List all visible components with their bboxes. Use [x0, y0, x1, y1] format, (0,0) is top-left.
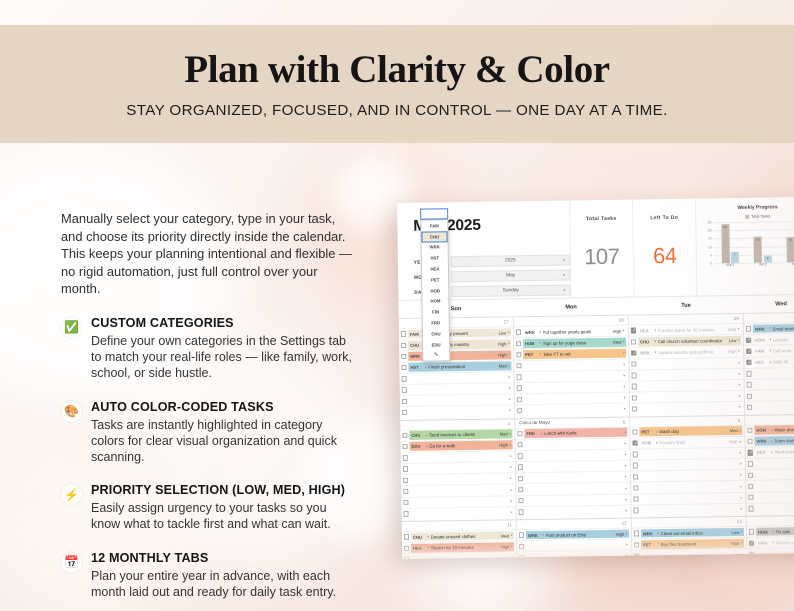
task-content[interactable]: ▾: [526, 506, 629, 516]
task-checkbox[interactable]: [518, 476, 523, 481]
task-content[interactable]: ▾: [639, 403, 742, 413]
chevron-down-icon[interactable]: ▾: [740, 451, 742, 455]
chevron-down-icon[interactable]: ▾: [769, 327, 771, 331]
task-checkbox[interactable]: [402, 387, 407, 392]
task-content[interactable]: HST▾Finish presentationMed▾: [409, 362, 512, 372]
chevron-down-icon[interactable]: ▾: [509, 409, 511, 413]
task-name[interactable]: [428, 501, 507, 502]
task-content[interactable]: ▾: [640, 460, 743, 470]
task-content[interactable]: ▾: [639, 392, 742, 402]
calendar-day-cell[interactable]: 13WRK▾Clean out email inboxLow▾PET▾Buy f…: [632, 517, 748, 559]
task-checkbox[interactable]: [402, 410, 407, 415]
task-content[interactable]: WRK▾Post product on EtsyHigh▾: [526, 529, 629, 539]
task-checkbox[interactable]: [633, 485, 638, 490]
task-name[interactable]: [428, 468, 507, 469]
task-name[interactable]: Finish presentation: [428, 364, 497, 370]
task-name[interactable]: Send invoices to clients: [429, 432, 498, 438]
chevron-down-icon[interactable]: ▾: [656, 430, 658, 434]
task-checkbox[interactable]: [404, 557, 409, 559]
task-content[interactable]: ▾: [755, 470, 794, 480]
task-name[interactable]: [772, 395, 794, 396]
category-dropdown-open[interactable]: FAMCHUWRKHSTHEAPETHOBHOMFINFRDCHUEDU✎: [420, 219, 450, 362]
task-checkbox[interactable]: [749, 540, 754, 545]
task-row[interactable]: ▾: [746, 457, 794, 469]
task-checkbox[interactable]: [631, 350, 636, 355]
task-name[interactable]: [428, 479, 507, 480]
task-name[interactable]: [657, 396, 736, 397]
task-name[interactable]: [541, 376, 620, 377]
chevron-down-icon[interactable]: ▾: [623, 373, 625, 377]
task-name[interactable]: [658, 509, 737, 510]
category-cell-selection[interactable]: [420, 208, 448, 219]
chevron-down-icon[interactable]: ▾: [738, 372, 740, 376]
task-content[interactable]: ▾: [754, 379, 794, 389]
chevron-down-icon[interactable]: ▾: [510, 510, 512, 514]
task-content[interactable]: PET▾Buy flea treatmentHigh▾: [641, 539, 744, 549]
task-content[interactable]: ▾: [411, 497, 514, 507]
task-row[interactable]: ▾: [746, 468, 794, 480]
chevron-down-icon[interactable]: ▾: [510, 465, 512, 469]
task-content[interactable]: ▾: [756, 481, 794, 491]
task-checkbox[interactable]: [747, 382, 752, 387]
calendar-day-cell[interactable]: 29HEA▾Practice piano for 20 minutesMed▾C…: [629, 314, 745, 416]
task-row[interactable]: HOM▾Fix sinkMed▾: [747, 525, 794, 537]
task-checkbox[interactable]: [518, 442, 523, 447]
task-name[interactable]: Sign up for yoga class: [543, 340, 612, 346]
task-name[interactable]: [542, 443, 621, 444]
chevron-down-icon[interactable]: ▾: [540, 352, 542, 356]
task-row[interactable]: ▾: [745, 389, 794, 401]
task-checkbox[interactable]: [748, 439, 753, 444]
task-name[interactable]: [427, 388, 506, 389]
task-content[interactable]: ▾: [639, 358, 742, 368]
task-content[interactable]: FAM▾Call momMed▾: [754, 346, 794, 356]
task-content[interactable]: ▾: [756, 492, 794, 502]
task-content[interactable]: ▾: [639, 381, 742, 391]
task-checkbox[interactable]: [518, 465, 523, 470]
task-content[interactable]: ▾: [525, 461, 628, 471]
task-row[interactable]: ▾: [400, 405, 514, 418]
chevron-down-icon[interactable]: ▾: [508, 375, 510, 379]
task-content[interactable]: HEA▾Meal prepHigh▾: [755, 447, 794, 457]
task-content[interactable]: HOB▾Sign up for yoga classMed▾: [523, 337, 626, 347]
chevron-down-icon[interactable]: ▾: [771, 450, 773, 454]
task-name[interactable]: [773, 485, 794, 486]
edit-pencil-icon[interactable]: ✎: [423, 350, 449, 361]
task-name[interactable]: [771, 373, 794, 374]
task-row[interactable]: ▾: [746, 479, 794, 491]
dropdown-option[interactable]: HST: [422, 253, 448, 264]
task-checkbox[interactable]: [746, 337, 751, 342]
task-checkbox[interactable]: [404, 545, 409, 550]
task-content[interactable]: CHU▾Send invoices to clientsMed▾: [410, 430, 513, 440]
chevron-down-icon[interactable]: ▾: [740, 484, 742, 488]
task-name[interactable]: Post product on Etsy: [545, 531, 614, 537]
task-checkbox[interactable]: [748, 450, 753, 455]
task-content[interactable]: WRK▾Email teamMed▾: [753, 323, 794, 333]
task-checkbox[interactable]: [403, 444, 408, 449]
calendar-day-cell[interactable]: 12WRK▾Post product on EtsyHigh▾▾▾▾: [517, 519, 633, 559]
chevron-down-icon[interactable]: ▾: [772, 541, 774, 545]
chevron-down-icon[interactable]: ▾: [770, 349, 772, 353]
task-row[interactable]: HOM▾LaundryLow▾: [744, 333, 794, 345]
calendar-day-cell[interactable]: 6PET▾Wash dogMed▾HOM▾Grocery shopHigh▾▾▾…: [630, 415, 746, 517]
task-name[interactable]: Donate unused clothes: [431, 533, 500, 539]
task-checkbox[interactable]: [632, 406, 637, 411]
task-row[interactable]: HOM▾Water plantsLow▾: [745, 423, 794, 435]
task-content[interactable]: PET▾Wash dogMed▾: [640, 426, 743, 436]
dropdown-option[interactable]: HEA: [422, 263, 448, 274]
calendar-day-cell[interactable]: 11CHU▾Donate unused clothesMed▾HEA▾Stret…: [402, 520, 518, 559]
dropdown-option[interactable]: FRD: [423, 317, 449, 328]
task-row[interactable]: WRK▾Team standupMed▾: [745, 434, 794, 446]
task-name[interactable]: Stretch for 10 minutes: [431, 544, 500, 550]
task-content[interactable]: ▾: [409, 395, 512, 405]
dropdown-option[interactable]: CHU: [423, 328, 449, 339]
task-checkbox[interactable]: [403, 466, 408, 471]
chevron-down-icon[interactable]: ▾: [624, 430, 626, 434]
chevron-down-icon[interactable]: ▾: [654, 328, 656, 332]
task-checkbox[interactable]: [403, 455, 408, 460]
task-content[interactable]: CHU▾Call church volunteer coordinatorLow…: [638, 336, 741, 346]
task-checkbox[interactable]: [403, 478, 408, 483]
task-content[interactable]: ▾: [754, 402, 794, 412]
chevron-down-icon[interactable]: ▾: [510, 499, 512, 503]
task-checkbox[interactable]: [404, 511, 409, 516]
task-content[interactable]: ▾: [754, 368, 794, 378]
task-name[interactable]: [658, 487, 737, 488]
task-name[interactable]: Email team: [772, 326, 794, 331]
task-content[interactable]: ▾: [525, 450, 628, 460]
task-row[interactable]: ▾: [515, 403, 629, 416]
task-name[interactable]: [541, 364, 620, 365]
chevron-down-icon[interactable]: ▾: [508, 353, 510, 357]
chevron-down-icon[interactable]: ▾: [739, 394, 741, 398]
chevron-down-icon[interactable]: ▾: [771, 428, 773, 432]
task-row[interactable]: HEA▾Walk 5kHigh▾: [744, 355, 794, 367]
calendar-day-cell[interactable]: Cinco de Mayo5FRD▾Lunch with Karla▾▾▾▾▾▾…: [515, 417, 631, 519]
task-content[interactable]: ▾: [641, 504, 744, 514]
chevron-down-icon[interactable]: ▾: [657, 531, 659, 535]
task-row[interactable]: WRK▾Email teamMed▾: [744, 322, 794, 334]
chevron-down-icon[interactable]: ▾: [738, 338, 740, 342]
chevron-down-icon[interactable]: ▾: [427, 535, 429, 539]
chevron-down-icon[interactable]: ▾: [427, 546, 429, 550]
task-content[interactable]: WRK▾Review reportLow▾: [756, 538, 794, 548]
chevron-down-icon[interactable]: ▾: [426, 444, 428, 448]
task-content[interactable]: ▾: [411, 508, 514, 518]
chevron-down-icon[interactable]: ▾: [623, 351, 625, 355]
chevron-down-icon[interactable]: ▾: [508, 330, 510, 334]
calendar-day-cell[interactable]: 27FAM▾Buy birthday presentLow▾CHU▾Serve …: [399, 317, 515, 419]
task-content[interactable]: HOM▾LaundryLow▾: [753, 335, 794, 345]
task-content[interactable]: ▾: [641, 482, 744, 492]
task-name[interactable]: [657, 407, 736, 408]
chevron-down-icon[interactable]: ▾: [510, 454, 512, 458]
chevron-down-icon[interactable]: ▾: [740, 473, 742, 477]
task-name[interactable]: Take FT to vet: [543, 351, 620, 357]
chevron-down-icon[interactable]: ▾: [625, 497, 627, 501]
task-checkbox[interactable]: [403, 500, 408, 505]
task-name[interactable]: [542, 387, 621, 388]
task-checkbox[interactable]: [631, 328, 636, 333]
task-row[interactable]: ▾: [746, 490, 794, 502]
dropdown-option[interactable]: WRK: [422, 242, 448, 253]
task-checkbox[interactable]: [403, 489, 408, 494]
task-content[interactable]: ▾: [640, 471, 743, 481]
calendar-day-cell[interactable]: 7HOM▾Water plantsLow▾WRK▾Team standupMed…: [745, 414, 794, 516]
chevron-down-icon[interactable]: ▾: [508, 364, 510, 368]
task-name[interactable]: [543, 455, 622, 456]
selector-dropdown[interactable]: May▾: [451, 269, 570, 282]
task-row[interactable]: ▾: [631, 503, 745, 516]
task-name[interactable]: Buy flea treatment: [661, 541, 730, 547]
task-checkbox[interactable]: [632, 373, 637, 378]
task-name[interactable]: [426, 377, 505, 378]
task-name[interactable]: [658, 464, 737, 465]
task-checkbox[interactable]: [401, 331, 406, 336]
task-content[interactable]: ▾: [524, 393, 627, 403]
task-checkbox[interactable]: [517, 374, 522, 379]
chevron-down-icon[interactable]: ▾: [626, 543, 628, 547]
task-name[interactable]: [543, 511, 622, 512]
chevron-down-icon[interactable]: ▾: [626, 532, 628, 536]
task-name[interactable]: [773, 463, 794, 464]
task-checkbox[interactable]: [633, 441, 638, 446]
spreadsheet-screenshot[interactable]: May 2025 YEAR2025▾MONTHMay▾DAYSunday▾ To…: [397, 197, 794, 559]
task-content[interactable]: ▾: [524, 405, 627, 415]
task-content[interactable]: ▾: [526, 540, 629, 550]
chevron-down-icon[interactable]: ▾: [625, 486, 627, 490]
task-checkbox[interactable]: [519, 544, 524, 549]
task-checkbox[interactable]: [517, 408, 522, 413]
task-checkbox[interactable]: [633, 463, 638, 468]
task-checkbox[interactable]: [402, 376, 407, 381]
chevron-down-icon[interactable]: ▾: [739, 429, 741, 433]
task-content[interactable]: ▾: [524, 360, 627, 370]
chevron-down-icon[interactable]: ▾: [740, 496, 742, 500]
task-checkbox[interactable]: [401, 342, 406, 347]
task-name[interactable]: Team standup: [774, 438, 794, 443]
task-checkbox[interactable]: [634, 508, 639, 513]
chevron-down-icon[interactable]: ▾: [740, 462, 742, 466]
task-row[interactable]: ▾: [744, 367, 794, 379]
chevron-down-icon[interactable]: ▾: [738, 349, 740, 353]
task-content[interactable]: ▾: [410, 452, 513, 462]
selector-dropdown[interactable]: 2025▾: [451, 254, 570, 267]
chevron-down-icon[interactable]: ▾: [624, 385, 626, 389]
task-name[interactable]: [656, 363, 735, 364]
task-name[interactable]: Review report: [776, 540, 794, 545]
task-name[interactable]: Walk 5k: [773, 359, 794, 364]
chevron-down-icon[interactable]: ▾: [741, 541, 743, 545]
task-content[interactable]: CHU▾Donate unused clothesMed▾: [411, 531, 514, 541]
dropdown-option[interactable]: CHU: [421, 231, 447, 242]
chevron-down-icon[interactable]: ▾: [426, 433, 428, 437]
chevron-down-icon[interactable]: ▾: [425, 365, 427, 369]
task-name[interactable]: Fix sink: [775, 529, 794, 534]
chevron-down-icon[interactable]: ▾: [657, 542, 659, 546]
task-content[interactable]: WRK▾Update resume and portfolioHigh▾: [639, 347, 742, 357]
task-checkbox[interactable]: [402, 433, 407, 438]
task-checkbox[interactable]: [632, 384, 637, 389]
task-checkbox[interactable]: [748, 484, 753, 489]
task-checkbox[interactable]: [634, 531, 639, 536]
task-name[interactable]: [656, 374, 735, 375]
task-content[interactable]: HOM▾Grocery shopHigh▾: [640, 437, 743, 447]
chevron-down-icon[interactable]: ▾: [739, 440, 741, 444]
calendar-day-cell[interactable]: 28WRK▾Put together yearly goalsHigh▾HOB▾…: [514, 316, 630, 418]
task-name[interactable]: Wash dog: [659, 428, 728, 434]
chevron-down-icon[interactable]: ▾: [771, 439, 773, 443]
task-name[interactable]: [658, 475, 737, 476]
task-checkbox[interactable]: [749, 506, 754, 511]
task-content[interactable]: ▾: [409, 373, 512, 383]
task-checkbox[interactable]: [519, 533, 524, 538]
task-content[interactable]: FRD▾Lunch with Karla▾: [525, 428, 628, 438]
task-checkbox[interactable]: [634, 542, 639, 547]
task-content[interactable]: ▾: [641, 493, 744, 503]
task-name[interactable]: Call mom: [773, 348, 794, 353]
task-content[interactable]: ▾: [526, 484, 629, 494]
task-checkbox[interactable]: [632, 429, 637, 434]
chevron-down-icon[interactable]: ▾: [508, 342, 510, 346]
task-row[interactable]: ▾: [746, 502, 794, 514]
task-name[interactable]: Go for a walk: [429, 443, 498, 449]
chevron-down-icon[interactable]: ▾: [624, 396, 626, 400]
task-row[interactable]: WRK▾Review reportLow▾: [747, 536, 794, 548]
task-checkbox[interactable]: [404, 534, 409, 539]
chevron-down-icon[interactable]: ▾: [511, 533, 513, 537]
task-name[interactable]: Grocery shop: [659, 439, 728, 445]
task-content[interactable]: EDU▾Go for a walkHigh▾: [410, 441, 513, 451]
calendar-day-cell[interactable]: 4CHU▾Send invoices to clientsMed▾EDU▾Go …: [400, 419, 516, 521]
task-name[interactable]: Meal prep: [774, 449, 794, 454]
task-name[interactable]: [427, 400, 506, 401]
task-content[interactable]: ▾: [756, 503, 794, 513]
dropdown-option[interactable]: EDU: [423, 339, 449, 350]
chevron-down-icon[interactable]: ▾: [770, 360, 772, 364]
task-checkbox[interactable]: [518, 498, 523, 503]
task-checkbox[interactable]: [746, 360, 751, 365]
task-name[interactable]: [543, 466, 622, 467]
task-checkbox[interactable]: [746, 349, 751, 354]
task-checkbox[interactable]: [631, 339, 636, 344]
task-name[interactable]: Practice piano for 20 minutes: [657, 327, 726, 333]
chevron-down-icon[interactable]: ▾: [625, 509, 627, 513]
task-content[interactable]: HEA▾Practice piano for 20 minutesMed▾: [638, 325, 741, 335]
task-row[interactable]: ▾: [402, 506, 516, 519]
selector-dropdown[interactable]: Sunday▾: [451, 284, 570, 297]
task-name[interactable]: [657, 385, 736, 386]
dropdown-option[interactable]: FIN: [423, 307, 449, 318]
dropdown-option[interactable]: HOM: [422, 296, 448, 307]
dropdown-option[interactable]: HOB: [422, 285, 448, 296]
task-content[interactable]: WRK▾Clean out email inboxLow▾: [641, 528, 744, 538]
task-name[interactable]: [544, 545, 623, 546]
chevron-down-icon[interactable]: ▾: [625, 475, 627, 479]
task-row[interactable]: ▾: [630, 401, 744, 414]
task-name[interactable]: Laundry: [773, 337, 794, 342]
task-content[interactable]: ▾: [525, 473, 628, 483]
task-checkbox[interactable]: [518, 453, 523, 458]
task-content[interactable]: ▾: [525, 439, 628, 449]
task-checkbox[interactable]: [401, 365, 406, 370]
task-content[interactable]: ▾: [410, 463, 513, 473]
chevron-down-icon[interactable]: ▾: [509, 386, 511, 390]
task-name[interactable]: [773, 474, 794, 475]
chevron-down-icon[interactable]: ▾: [739, 405, 741, 409]
task-name[interactable]: Call church volunteer coordinator: [658, 338, 728, 344]
task-name[interactable]: [542, 409, 621, 410]
task-name[interactable]: [542, 398, 621, 399]
chevron-down-icon[interactable]: ▾: [739, 383, 741, 387]
chevron-down-icon[interactable]: ▾: [509, 432, 511, 436]
task-checkbox[interactable]: [518, 487, 523, 492]
chevron-down-icon[interactable]: ▾: [509, 443, 511, 447]
task-name[interactable]: [427, 411, 506, 412]
chevron-down-icon[interactable]: ▾: [624, 407, 626, 411]
task-checkbox[interactable]: [748, 495, 753, 500]
task-checkbox[interactable]: [747, 428, 752, 433]
chevron-down-icon[interactable]: ▾: [656, 441, 658, 445]
task-checkbox[interactable]: [401, 354, 406, 359]
chevron-down-icon[interactable]: ▾: [738, 361, 740, 365]
task-checkbox[interactable]: [402, 398, 407, 403]
task-checkbox[interactable]: [747, 393, 752, 398]
task-row[interactable]: ▾: [745, 400, 794, 412]
chevron-down-icon[interactable]: ▾: [772, 530, 774, 534]
task-name[interactable]: [428, 490, 507, 491]
task-row[interactable]: HEA▾Meal prepHigh▾: [746, 446, 794, 458]
chevron-down-icon[interactable]: ▾: [740, 507, 742, 511]
task-checkbox[interactable]: [633, 452, 638, 457]
task-content[interactable]: HEA▾Stretch for 10 minutesHigh▾: [411, 542, 514, 552]
chevron-down-icon[interactable]: ▾: [511, 545, 513, 549]
task-name[interactable]: Put together yearly goals: [542, 328, 611, 334]
task-content[interactable]: ▾: [524, 382, 627, 392]
task-checkbox[interactable]: [517, 385, 522, 390]
task-name[interactable]: [773, 508, 794, 509]
task-name[interactable]: [658, 453, 737, 454]
task-content[interactable]: ▾: [639, 369, 742, 379]
task-content[interactable]: ▾: [640, 448, 743, 458]
task-content[interactable]: PET▾Take FT to vet▾: [524, 349, 627, 359]
task-content[interactable]: HOM▾Water plantsLow▾: [755, 425, 794, 435]
chevron-down-icon[interactable]: ▾: [510, 477, 512, 481]
task-checkbox[interactable]: [631, 361, 636, 366]
chevron-down-icon[interactable]: ▾: [510, 488, 512, 492]
chevron-down-icon[interactable]: ▾: [623, 329, 625, 333]
task-name[interactable]: Update resume and portfolio: [658, 349, 727, 355]
chevron-down-icon[interactable]: ▾: [509, 398, 511, 402]
chevron-down-icon[interactable]: ▾: [654, 339, 656, 343]
task-name[interactable]: [428, 512, 507, 513]
task-checkbox[interactable]: [516, 330, 521, 335]
task-row[interactable]: FAM▾Call momMed▾: [744, 344, 794, 356]
chevron-down-icon[interactable]: ▾: [655, 351, 657, 355]
chevron-down-icon[interactable]: ▾: [738, 327, 740, 331]
chevron-down-icon[interactable]: ▾: [769, 338, 771, 342]
task-content[interactable]: WRK▾Put together yearly goalsHigh▾: [523, 326, 626, 336]
dropdown-option[interactable]: PET: [422, 274, 448, 285]
task-content[interactable]: HEA▾Walk 5kHigh▾: [754, 357, 794, 367]
task-name[interactable]: [772, 384, 794, 385]
chevron-down-icon[interactable]: ▾: [541, 431, 543, 435]
task-checkbox[interactable]: [749, 529, 754, 534]
task-checkbox[interactable]: [519, 509, 524, 514]
chevron-down-icon[interactable]: ▾: [625, 464, 627, 468]
